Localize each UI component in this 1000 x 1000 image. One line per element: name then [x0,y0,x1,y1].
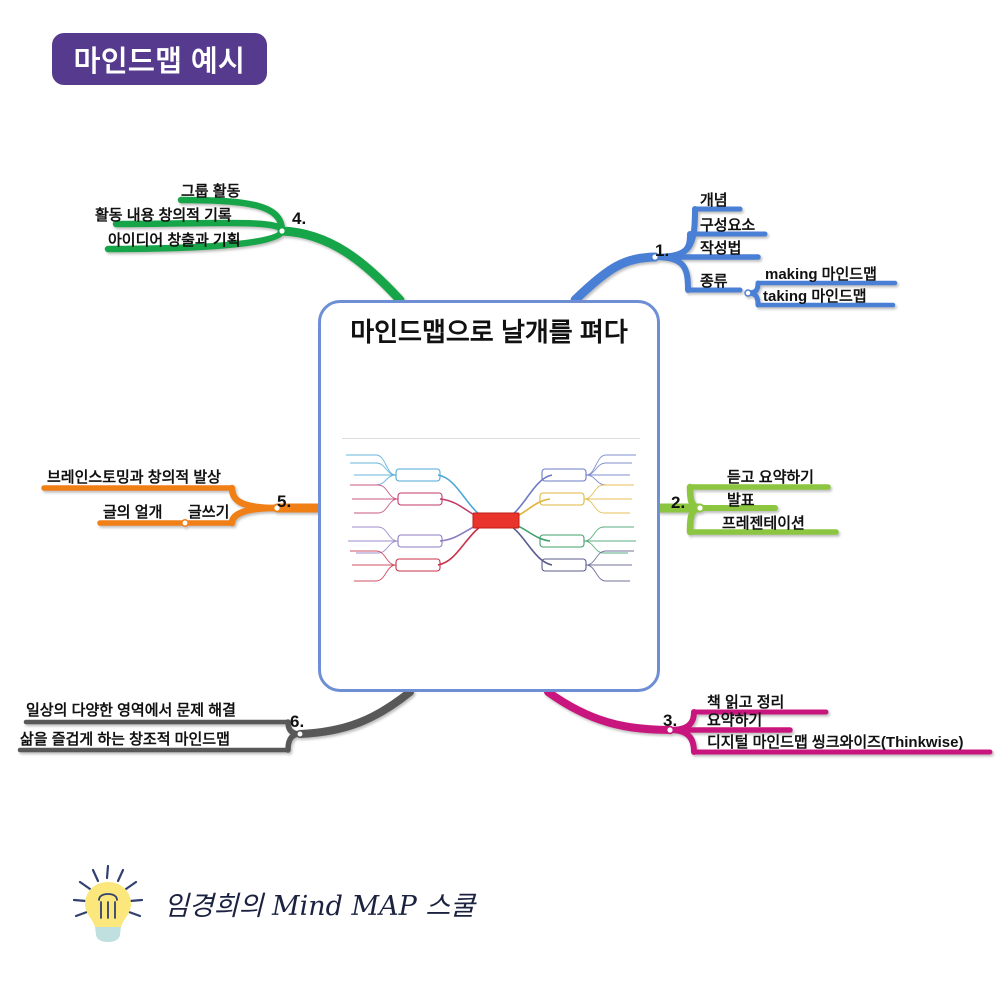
branch-5-item-1[interactable]: 글의 얼개 [103,505,162,520]
branch-1-item-1[interactable]: 구성요소 [700,218,755,233]
branch-5-item-2[interactable]: 글쓰기 [188,505,229,520]
footer-signature-text: 임경희의 Mind MAP 스쿨 [164,884,475,923]
mindmap-page: 마인드맵 예시 [0,0,1000,1000]
branch-3-item-1[interactable]: 요약하기 [707,713,762,728]
footer-signature: 임경희의 Mind MAP 스쿨 [60,862,480,952]
branch-1-item-2[interactable]: 작성법 [700,241,741,256]
branch-4-item-1[interactable]: 활동 내용 창의적 기록 [95,208,232,223]
branch-3-item-0[interactable]: 책 읽고 정리 [707,695,784,710]
branch-3-item-2[interactable]: 디지털 마인드맵 씽크와이즈(Thinkwise) [707,735,963,750]
branch-6-item-0[interactable]: 일상의 다양한 영역에서 문제 해결 [26,703,236,718]
central-node[interactable]: 마인드맵으로 날개를 펴다 [318,300,660,692]
branch-5-item-0[interactable]: 브레인스토밍과 창의적 발상 [47,470,221,485]
branch-1-item-3-child-0[interactable]: making 마인드맵 [765,267,877,282]
branch-1-number: 1. [655,241,669,261]
page-title-badge: 마인드맵 예시 [52,33,267,85]
branch-2-item-2[interactable]: 프레젠테이션 [722,516,805,531]
branch-6-item-1[interactable]: 삶을 즐겁게 하는 창조적 마인드맵 [20,732,230,747]
branch-6-number: 6. [290,712,304,732]
branch-4-number: 4. [292,209,306,229]
branch-4-item-0[interactable]: 그룹 활동 [181,184,240,199]
branch-2-item-1[interactable]: 발표 [727,493,755,508]
branch-4-item-2[interactable]: 아이디어 창출과 기획 [108,233,241,248]
lightbulb-icon [60,862,160,948]
branch-1-item-3[interactable]: 종류 [700,274,728,289]
mbti-mindmap-thumbnail [342,438,640,598]
branch-1-item-0[interactable]: 개념 [700,193,728,208]
branch-5-number: 5. [277,492,291,512]
branch-2-item-0[interactable]: 듣고 요약하기 [727,470,814,485]
branch-1-item-3-child-1[interactable]: taking 마인드맵 [763,289,867,304]
central-node-title: 마인드맵으로 날개를 펴다 [321,312,657,349]
branch-2-number: 2. [671,493,685,513]
page-title: 마인드맵 예시 [74,38,246,80]
branch-3-number: 3. [663,711,677,731]
